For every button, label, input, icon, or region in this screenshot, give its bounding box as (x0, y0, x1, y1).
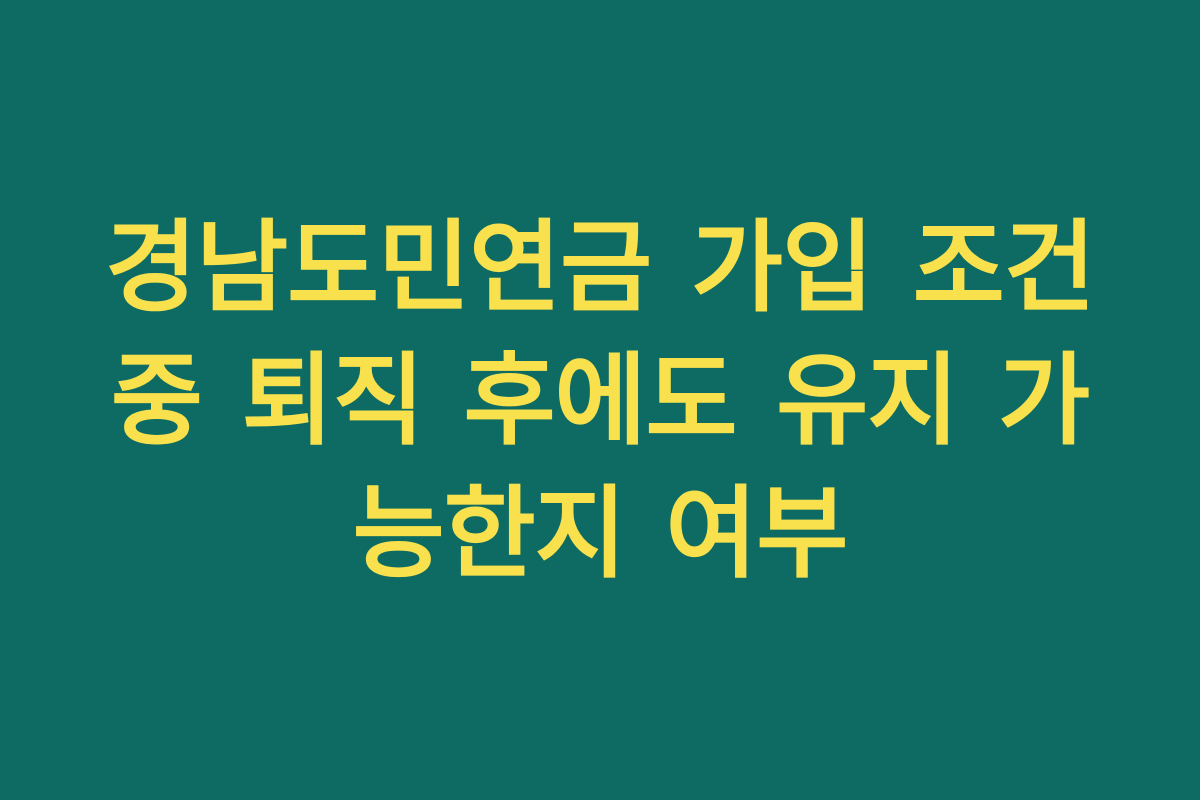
banner-canvas: 경남도민연금 가입 조건 중 퇴직 후에도 유지 가 능한지 여부 (0, 0, 1200, 800)
title-line-2: 중 퇴직 후에도 유지 가 (70, 334, 1130, 467)
page-title: 경남도민연금 가입 조건 중 퇴직 후에도 유지 가 능한지 여부 (70, 201, 1130, 600)
title-line-3: 능한지 여부 (70, 467, 1130, 600)
title-line-1: 경남도민연금 가입 조건 (70, 201, 1130, 334)
